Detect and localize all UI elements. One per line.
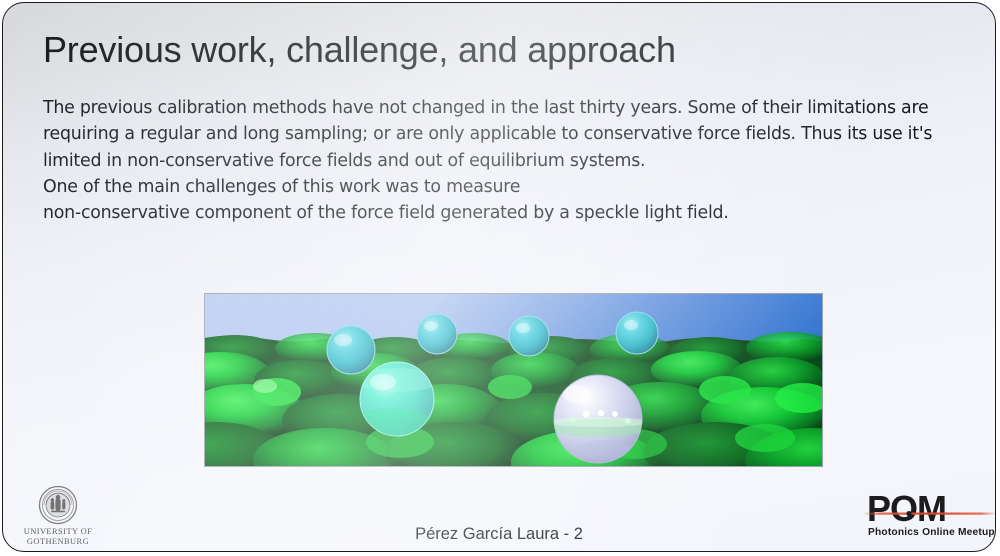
pom-tagline: Photonics Online Meetup (868, 527, 995, 538)
page-title: Previous work, challenge, and approach (43, 29, 676, 71)
university-name-line-2: GOTHENBURG (17, 537, 99, 547)
body-line-3: limited in non-conservative force fields… (43, 148, 963, 174)
speckle-terrain (205, 332, 822, 466)
pom-logo: POM Photonics Online Meetup (863, 488, 996, 540)
sphere-upper-right (616, 312, 658, 354)
footer-presenter-and-page: Pérez García Laura - 2 (3, 525, 995, 544)
university-seal-icon (38, 485, 78, 525)
laser-beam-line (863, 513, 996, 515)
body-line-1: The previous calibration methods have no… (43, 95, 963, 121)
pom-wordmark: POM (867, 488, 946, 529)
beam-focus-dot (906, 511, 911, 516)
body-line-2: requiring a regular and long sampling; o… (43, 121, 963, 147)
university-name-text: UNIVERSITY OF GOTHENBURG (17, 527, 99, 547)
slide-body-text: The previous calibration methods have no… (43, 95, 963, 226)
sphere-upper-mid (509, 316, 549, 356)
sphere-top-center (417, 314, 457, 354)
body-line-5: non-conservative component of the force … (43, 200, 963, 226)
speckle-field-figure (204, 293, 823, 467)
sphere-mid-left (327, 326, 375, 374)
speckle-field-render (205, 294, 822, 466)
body-line-4: One of the main challenges of this work … (43, 174, 963, 200)
pom-logo-icon: POM Photonics Online Meetup (863, 488, 996, 540)
university-name-line-1: UNIVERSITY OF (17, 527, 99, 537)
slide-canvas: Previous work, challenge, and approach T… (2, 2, 996, 552)
university-of-gothenburg-logo: UNIVERSITY OF GOTHENBURG (17, 485, 99, 547)
